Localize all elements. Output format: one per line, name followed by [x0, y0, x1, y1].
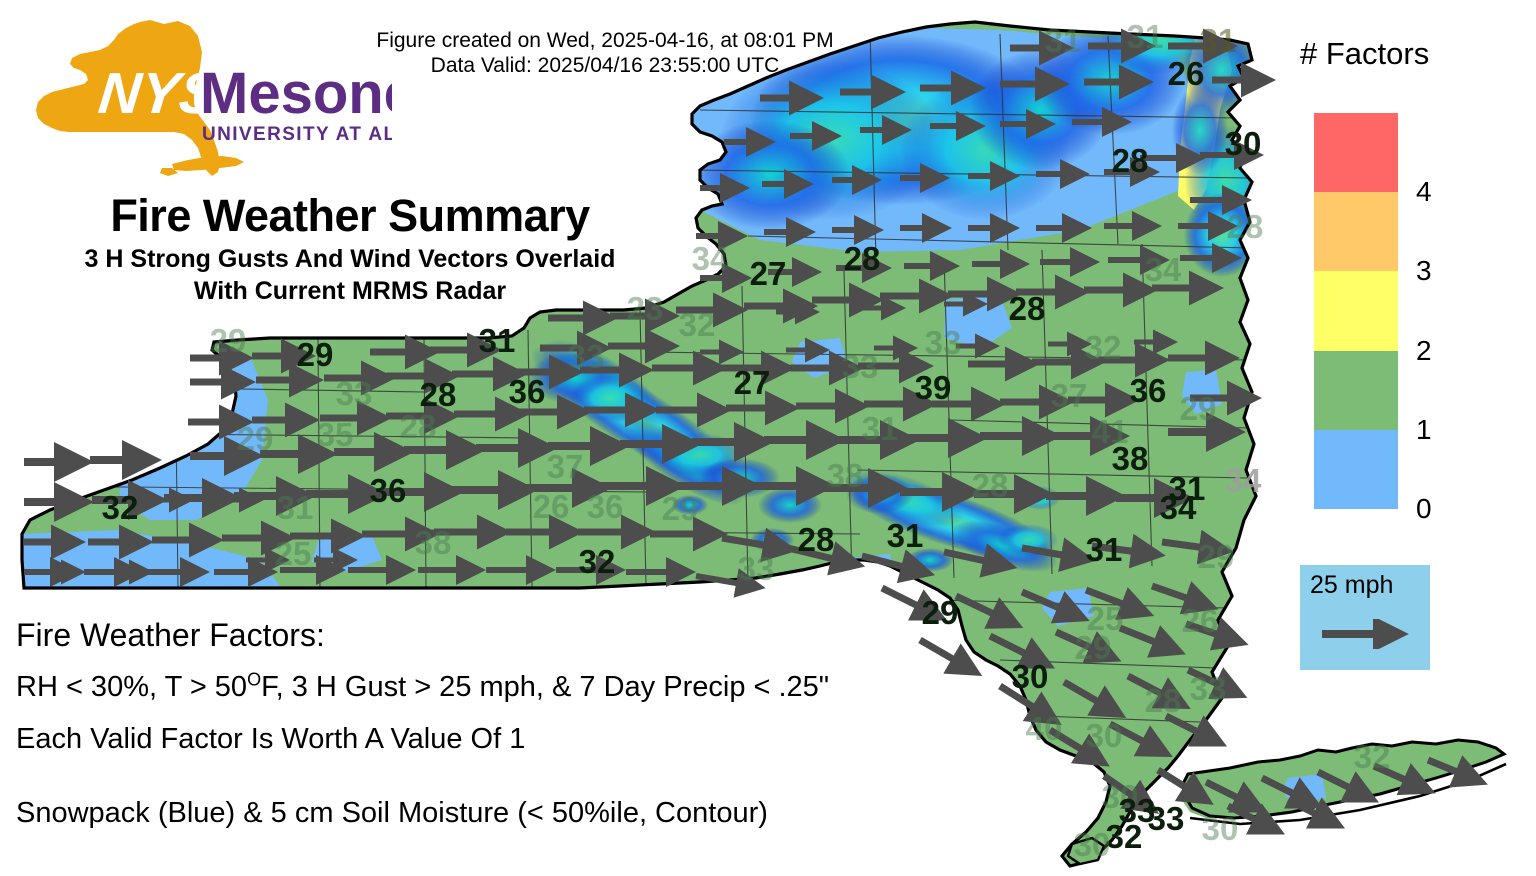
colorbar-tick-1: 1 — [1416, 414, 1432, 446]
gust-value-label: 27 — [734, 364, 771, 401]
colorbar-title: # Factors — [1300, 36, 1500, 72]
colorbar-ticks: 43210 — [1408, 113, 1478, 509]
gust-value-label: 36 — [1130, 372, 1167, 409]
gust-value-label: 34 — [1145, 251, 1182, 288]
caption-value-line: Each Valid Factor Is Worth A Value Of 1 — [16, 724, 916, 754]
gust-value-label: 31 — [479, 322, 516, 359]
gust-value-label: 36 — [587, 488, 624, 525]
gust-value-label: 28 — [400, 408, 437, 445]
gust-value-label: 36 — [370, 472, 407, 509]
gust-value-label: 29 — [297, 336, 334, 373]
gust-value-label: 33 — [738, 550, 775, 587]
gust-value-label: 30 — [1202, 810, 1239, 847]
gust-value-label: 38 — [827, 457, 864, 494]
gust-value-label: 32 — [1354, 738, 1391, 775]
gust-value-label: 26 — [533, 488, 570, 525]
gust-value-label: 30 — [1225, 125, 1262, 162]
gust-value-label: 28 — [1227, 208, 1264, 245]
gust-value-label: 28 — [798, 521, 835, 558]
gust-value-label: 33 — [1190, 670, 1227, 707]
gust-value-label: 32 — [679, 306, 716, 343]
gust-value-label: 32 — [1085, 329, 1122, 366]
gust-value-label: 36 — [509, 373, 546, 410]
colorbar-band-2 — [1314, 271, 1398, 350]
gust-value-label: 37 — [1051, 377, 1088, 414]
colorbar-band-0 — [1314, 430, 1398, 509]
colorbar-band-3 — [1314, 192, 1398, 271]
gust-value-label: 35 — [317, 416, 354, 453]
gust-value-label: 33 — [336, 375, 373, 412]
gust-value-label: 34 — [1160, 489, 1197, 526]
caption-block: Fire Weather Factors: RH < 30%, T > 50OF… — [16, 620, 916, 850]
gust-value-label: 29 — [1180, 390, 1217, 427]
colorbar-band-1 — [1314, 351, 1398, 430]
gust-value-label: 32 — [1106, 818, 1143, 855]
caption-snow-line: Snowpack (Blue) & 5 cm Soil Moisture (< … — [16, 798, 916, 828]
gust-value-label: 26 — [1182, 602, 1219, 639]
gust-value-label: 32 — [579, 543, 616, 580]
gust-value-label: 27 — [750, 255, 787, 292]
reference-vector-arrow-icon — [1318, 619, 1414, 649]
gust-value-label: 29 — [210, 322, 247, 359]
gust-value-label: 33 — [925, 324, 962, 361]
gust-value-label: 31 — [1045, 22, 1082, 59]
gust-value-label: 28 — [972, 467, 1009, 504]
gust-value-label: 29 — [237, 420, 274, 457]
caption-rh-prefix: RH < 30%, T > 50 — [16, 671, 247, 703]
gust-value-label: 28 — [1145, 682, 1182, 719]
gust-value-label: 33 — [842, 348, 879, 385]
gust-value-label: 31 — [862, 410, 899, 447]
gust-value-label: 34 — [692, 240, 729, 277]
gust-value-label: 31 — [1200, 22, 1237, 59]
gust-value-label: 26 — [1168, 55, 1205, 92]
gust-value-label: 38 — [1112, 440, 1149, 477]
colorbar-tick-4: 4 — [1416, 176, 1432, 208]
colorbar-band-4 — [1314, 113, 1398, 192]
gust-value-label: 39 — [915, 369, 952, 406]
gust-value-label: 29 — [1198, 538, 1235, 575]
gust-value-label: 23 — [627, 290, 664, 327]
gust-value-label: 29 — [1075, 629, 1112, 666]
gust-value-label: 28 — [844, 240, 881, 277]
gust-value-label: 31 — [1127, 18, 1164, 55]
colorbar-tick-2: 2 — [1416, 335, 1432, 367]
gust-value-label: 28 — [1009, 290, 1046, 327]
caption-factors-line: RH < 30%, T > 50OF, 3 H Gust > 25 mph, &… — [16, 672, 916, 702]
colorbar-tick-3: 3 — [1416, 255, 1432, 287]
gust-value-label: 32 — [102, 489, 139, 526]
caption-rh-suffix: F, 3 H Gust > 25 mph, & 7 Day Precip < .… — [261, 671, 829, 703]
colorbar-tick-0: 0 — [1416, 493, 1432, 525]
colorbar — [1314, 113, 1398, 509]
gust-value-label: 30 — [1074, 826, 1111, 863]
reference-vector-key: 25 mph — [1300, 565, 1430, 670]
gust-value-label: 34 — [1225, 462, 1262, 499]
gust-value-label: 31 — [277, 489, 314, 526]
gust-value-label: 40 — [1026, 710, 1063, 747]
gust-value-label: 29 — [662, 490, 699, 527]
reference-vector-label: 25 mph — [1310, 571, 1393, 600]
degree-symbol: O — [247, 669, 261, 689]
gust-value-label: 30 — [1086, 717, 1123, 754]
gust-value-label: 29 — [922, 594, 959, 631]
gust-value-label: 33 — [1148, 800, 1185, 837]
gust-value-label: 37 — [547, 448, 584, 485]
gust-value-label: 38 — [415, 524, 452, 561]
gust-value-label: 31 — [887, 517, 924, 554]
gust-value-label: 31 — [1086, 531, 1123, 568]
gust-value-label: 33 — [568, 338, 605, 375]
caption-heading: Fire Weather Factors: — [16, 620, 916, 650]
gust-value-label: 30 — [1012, 658, 1049, 695]
gust-value-label: 28 — [1112, 142, 1149, 179]
gust-value-label: 25 — [275, 535, 312, 572]
